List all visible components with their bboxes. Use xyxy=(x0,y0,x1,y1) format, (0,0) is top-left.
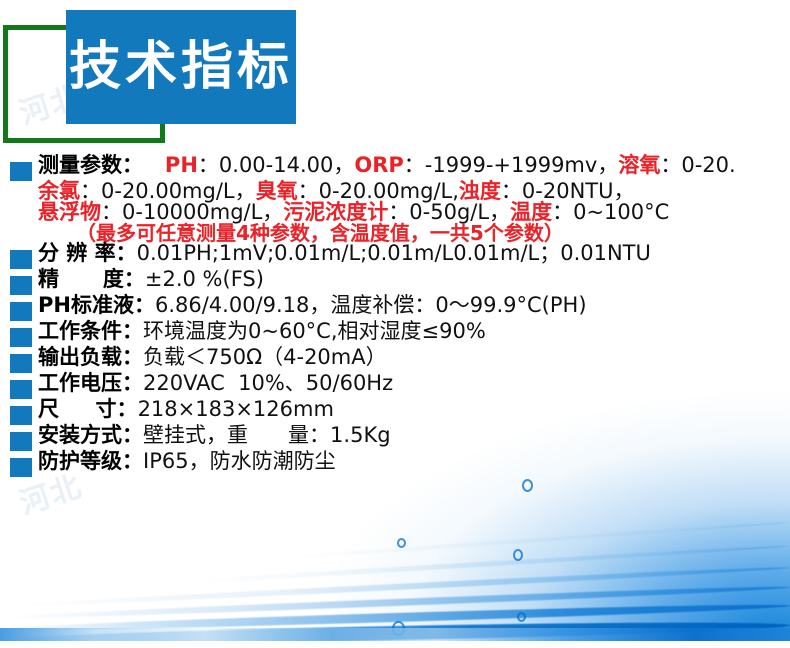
spec-label: 安装方式： xyxy=(38,425,143,446)
spec-line: 输出负载：负载＜750Ω（4-20mA） xyxy=(38,347,387,368)
spec-line: 测量参数： PH：0.00-14.00，ORP：-1999-+1999mv，溶氧… xyxy=(38,155,736,176)
spec-row: 工作电压：220VAC 10%、50/60Hz xyxy=(0,373,790,399)
spec-value: ±2.0 %(FS) xyxy=(145,269,264,290)
bubble-icon-4 xyxy=(392,621,405,636)
wave-band-6 xyxy=(1,520,789,579)
spec-line: 悬浮物：0-10000mg/L，污泥浓度计：0-50g/L，温度：0~100°C xyxy=(38,202,669,223)
wave-band-1 xyxy=(0,618,790,647)
spec-value-highlight: 浊度 xyxy=(459,181,501,202)
spec-line: 分 辨 率：0.01PH;1mV;0.01m/L;0.01m/L0.01m/L；… xyxy=(38,243,651,264)
spec-sheet-page: 河北 河北安 河北 技术指标 测量参数： PH：0.00-14.00，ORP：-… xyxy=(0,0,790,648)
bullet-square-icon xyxy=(10,354,32,373)
spec-value: 218×183×126mm xyxy=(138,399,334,420)
spec-line: 精 度：±2.0 %(FS) xyxy=(38,269,264,290)
bullet-square-icon xyxy=(10,276,32,295)
spec-line: 工作电压：220VAC 10%、50/60Hz xyxy=(38,373,393,394)
title-banner: 技术指标 xyxy=(66,10,296,124)
spec-label: 工作电压： xyxy=(38,373,143,394)
bottom-white-strip xyxy=(0,641,790,648)
spec-label: 精 度： xyxy=(38,269,145,290)
spec-line: PH标准液：6.86/4.00/9.18，温度补偿：0～99.9°C(PH) xyxy=(38,295,587,316)
bubble-icon-3 xyxy=(397,538,406,548)
spec-value: ：-1999-+1999mv， xyxy=(404,155,619,176)
spec-value-highlight: 余氯 xyxy=(38,181,80,202)
wave-band-2 xyxy=(0,601,790,633)
spec-row: 输出负载：负载＜750Ω（4-20mA） xyxy=(0,347,790,373)
spec-value: ：0.00-14.00， xyxy=(198,155,354,176)
bubble-icon-1 xyxy=(522,479,533,492)
bullet-square-icon xyxy=(10,380,32,399)
spec-value: ：0-20.00mg/L, xyxy=(298,181,459,202)
spec-value: 0.01PH;1mV;0.01m/L;0.01m/L0.01m/L；0.01NT… xyxy=(137,243,651,264)
header: 技术指标 xyxy=(0,0,790,150)
spec-value: ：0-20.00mg/L， xyxy=(80,181,256,202)
bullet-square-icon xyxy=(10,162,32,181)
spec-value: 环境温度为0~60°C,相对湿度≤90% xyxy=(143,321,486,342)
spec-value-highlight: 臭氧 xyxy=(256,181,298,202)
spec-label: PH标准液： xyxy=(38,295,155,316)
spec-value-highlight: 溶氧 xyxy=(618,155,660,176)
wave-band-3 xyxy=(0,584,790,621)
spec-value: ：0-20. xyxy=(660,155,735,176)
wave-band-5 xyxy=(1,544,790,596)
spec-line: 防护等级：IP65，防水防潮防尘 xyxy=(38,451,336,472)
spec-label: 尺 寸： xyxy=(38,399,138,420)
spec-note-row: （最多可任意测量4种参数，含温度值，一共5个参数） xyxy=(0,223,790,243)
spec-label: 工作条件： xyxy=(38,321,143,342)
bullet-square-icon xyxy=(10,302,32,321)
spec-row: 尺 寸：218×183×126mm xyxy=(0,399,790,425)
spec-row: 分 辨 率：0.01PH;1mV;0.01m/L;0.01m/L0.01m/L；… xyxy=(0,243,790,269)
bullet-square-icon xyxy=(10,406,32,425)
spec-value-highlight: 悬浮物 xyxy=(38,202,101,223)
bullet-square-icon xyxy=(10,328,32,347)
spec-value-highlight: PH xyxy=(143,155,198,176)
spec-row: 精 度：±2.0 %(FS) xyxy=(0,269,790,295)
bottom-wave-strip xyxy=(0,628,790,648)
spec-row: 安装方式：壁挂式，重 量：1.5Kg xyxy=(0,425,790,451)
spec-label: 测量参数： xyxy=(38,155,143,176)
spec-value: ：0-50g/L， xyxy=(388,202,510,223)
spec-row: PH标准液：6.86/4.00/9.18，温度补偿：0～99.9°C(PH) xyxy=(0,295,790,321)
wave-band-4 xyxy=(0,565,789,610)
bubble-icon-5 xyxy=(517,612,526,622)
bullet-square-icon xyxy=(10,458,32,477)
spec-row: 余氯：0-20.00mg/L，臭氧：0-20.00mg/L,浊度：0-20NTU… xyxy=(0,181,790,202)
spec-line: 尺 寸：218×183×126mm xyxy=(38,399,334,420)
spec-list: 测量参数： PH：0.00-14.00，ORP：-1999-+1999mv，溶氧… xyxy=(0,155,790,477)
spec-value: ：0~100°C xyxy=(552,202,669,223)
spec-row: 悬浮物：0-10000mg/L，污泥浓度计：0-50g/L，温度：0~100°C xyxy=(0,202,790,223)
bullet-square-icon xyxy=(10,250,32,269)
spec-line: 安装方式：壁挂式，重 量：1.5Kg xyxy=(38,425,391,446)
spec-value: 壁挂式，重 量：1.5Kg xyxy=(143,425,391,446)
spec-row: 防护等级：IP65，防水防潮防尘 xyxy=(0,451,790,477)
bullet-square-icon xyxy=(10,432,32,451)
spec-value-highlight: ORP xyxy=(354,155,403,176)
spec-value-highlight: 污泥浓度计 xyxy=(283,202,388,223)
spec-value: ：0-20NTU， xyxy=(501,181,635,202)
spec-value: 6.86/4.00/9.18，温度补偿：0～99.9°C(PH) xyxy=(155,295,587,316)
spec-label: 分 辨 率： xyxy=(38,243,137,264)
spec-line: 工作条件：环境温度为0~60°C,相对湿度≤90% xyxy=(38,321,486,342)
spec-value: ：0-10000mg/L， xyxy=(101,202,283,223)
bubble-icon-2 xyxy=(513,549,523,561)
page-title: 技术指标 xyxy=(69,41,293,93)
spec-row: 工作条件：环境温度为0~60°C,相对湿度≤90% xyxy=(0,321,790,347)
spec-label: 输出负载： xyxy=(38,347,143,368)
spec-line: 余氯：0-20.00mg/L，臭氧：0-20.00mg/L,浊度：0-20NTU… xyxy=(38,181,635,202)
spec-row: 测量参数： PH：0.00-14.00，ORP：-1999-+1999mv，溶氧… xyxy=(0,155,790,181)
spec-value: 负载＜750Ω（4-20mA） xyxy=(143,347,387,368)
spec-note-text: （最多可任意测量4种参数，含温度值，一共5个参数） xyxy=(76,223,564,243)
spec-value-highlight: 温度 xyxy=(510,202,552,223)
spec-label: 防护等级： xyxy=(38,451,143,472)
spec-value: 220VAC 10%、50/60Hz xyxy=(143,373,393,394)
spec-value: IP65，防水防潮防尘 xyxy=(143,451,336,472)
